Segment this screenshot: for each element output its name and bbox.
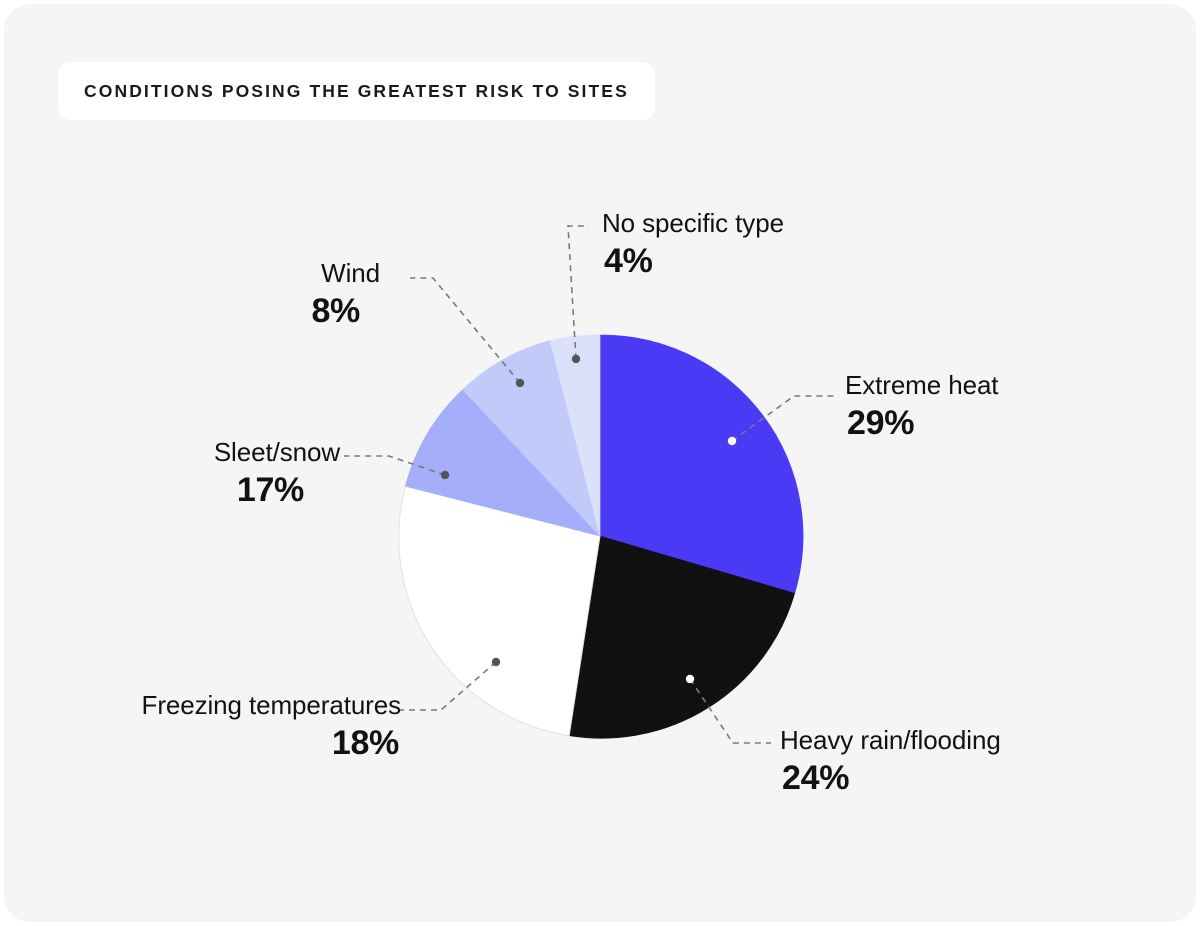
leader-dot-extreme-heat	[728, 437, 736, 445]
callout-value-freezing-temperatures: 18%	[142, 726, 399, 761]
callout-value-sleet-snow: 17%	[214, 473, 304, 508]
chart-card: CONDITIONS POSING THE GREATEST RISK TO S…	[4, 4, 1196, 922]
callout-label-extreme-heat: Extreme heat	[845, 372, 998, 399]
callout-extreme-heat: Extreme heat 29%	[845, 372, 998, 441]
leader-dot-sleet-snow	[441, 471, 449, 479]
callout-label-freezing-temperatures: Freezing temperatures	[142, 692, 401, 719]
pie-chart: No specific type 4% Extreme heat 29% Hea…	[4, 4, 1196, 922]
leader-dot-wind	[516, 379, 524, 387]
leader-dot-heavy-rain-flooding	[686, 675, 694, 683]
callout-value-wind: 8%	[311, 294, 360, 329]
callout-freezing-temperatures: Freezing temperatures 18%	[142, 692, 401, 761]
callout-wind: Wind 8%	[311, 260, 380, 329]
callout-value-extreme-heat: 29%	[847, 406, 998, 441]
callout-value-no-specific-type: 4%	[604, 244, 784, 279]
leader-dot-no-specific-type	[572, 355, 580, 363]
callout-value-heavy-rain-flooding: 24%	[782, 761, 1001, 796]
pie-chart-svg	[4, 4, 1196, 922]
callout-label-no-specific-type: No specific type	[602, 210, 784, 237]
callout-label-heavy-rain-flooding: Heavy rain/flooding	[780, 727, 1001, 754]
leader-dot-freezing-temperatures	[492, 658, 500, 666]
callout-heavy-rain-flooding: Heavy rain/flooding 24%	[780, 727, 1001, 796]
callout-label-wind: Wind	[311, 260, 380, 287]
callout-sleet-snow: Sleet/snow 17%	[214, 439, 340, 508]
callout-no-specific-type: No specific type 4%	[602, 210, 784, 279]
callout-label-sleet-snow: Sleet/snow	[214, 439, 340, 466]
